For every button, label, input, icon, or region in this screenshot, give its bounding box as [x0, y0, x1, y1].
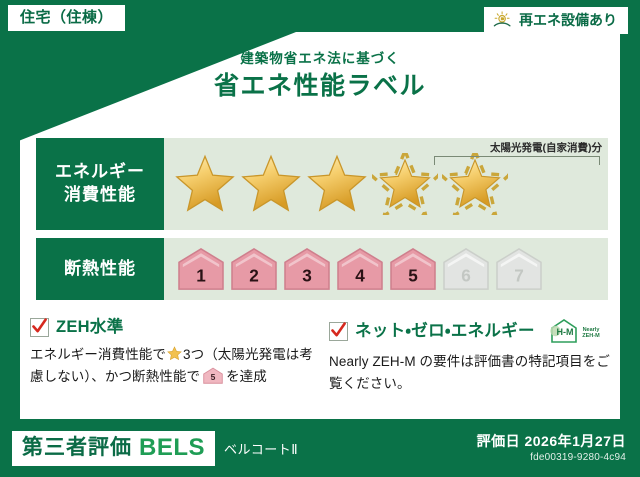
- evaluation-date: 評価日 2026年1月27日: [477, 433, 626, 450]
- energy-label-line1: エネルギー: [55, 161, 145, 184]
- title-block: 建築物省エネ法に基づく 省エネ性能ラベル: [0, 52, 640, 99]
- insulation-level-active: 1: [176, 247, 226, 291]
- insulation-performance-value: 1234567: [164, 238, 608, 300]
- star-icon-filled: [240, 154, 302, 214]
- insulation-scale: 1234567: [164, 247, 544, 291]
- insulation-level-active: 5: [388, 247, 438, 291]
- title-subtitle: 建築物省エネ法に基づく: [0, 52, 640, 66]
- insulation-performance-row: 断熱性能 1234567: [36, 238, 608, 300]
- net-zero-note: ネット・ゼロ・エネルギー H-M Nearly ZEH-M Nearly ZEH…: [329, 318, 612, 395]
- energy-performance-label: エネルギー 消費性能: [36, 138, 164, 230]
- star-icon-solar: [372, 153, 438, 215]
- evaluation-id: fde00319-9280-4c94: [477, 452, 626, 463]
- zeh-note-body: エネルギー消費性能で3つ（太陽光発電は考慮しない）、かつ断熱性能で5を達成: [30, 344, 313, 388]
- insulation-label-text: 断熱性能: [64, 258, 136, 281]
- zeh-note-title: ZEH水準: [56, 319, 124, 336]
- zeh-note-head: ZEH水準: [30, 318, 313, 337]
- renewable-badge-label: 再エネ設備あり: [519, 13, 617, 27]
- insulation-level-number: 2: [249, 265, 259, 285]
- footer-bar: 第三者評価 BELS ベルコートⅡ 評価日 2026年1月27日 fde0031…: [0, 419, 640, 477]
- insulation-level-active: 3: [282, 247, 332, 291]
- insulation-level-number: 5: [408, 265, 418, 285]
- net-zero-note-body: Nearly ZEH-M の要件は評価書の特記項目をご覧ください。: [329, 351, 612, 395]
- energy-label-root: 住宅（住棟） 再エネ設備あり 建築物省エネ法に基づく 省エネ性能ラベル エネルギ…: [0, 0, 640, 477]
- net-zero-checkbox[interactable]: [329, 322, 348, 341]
- energy-label-line2: 消費性能: [64, 184, 136, 207]
- checkmark-icon: [31, 317, 48, 336]
- evaluation-date-value: 2026年1月27日: [524, 433, 626, 449]
- svg-text:H-M: H-M: [556, 327, 573, 337]
- zeh-checkbox[interactable]: [30, 318, 49, 337]
- energy-performance-row: エネルギー 消費性能 太陽光発電(自家消費)分: [36, 138, 608, 230]
- page-title: 省エネ性能ラベル: [0, 74, 640, 99]
- zeh-note: ZEH水準 エネルギー消費性能で3つ（太陽光発電は考慮しない）、かつ断熱性能で5…: [30, 318, 313, 395]
- insulation-level-inactive: 7: [494, 247, 544, 291]
- renewable-equipment-badge: 再エネ設備あり: [484, 7, 628, 34]
- insulation-level-number: 1: [196, 265, 206, 285]
- svg-text:ZEH-M: ZEH-M: [582, 333, 600, 339]
- insulation-level-active: 2: [229, 247, 279, 291]
- zeh-body-part1: エネルギー消費性能で: [30, 347, 166, 362]
- solar-note-label: 太陽光発電(自家消費)分: [490, 140, 602, 155]
- performance-rows: エネルギー 消費性能 太陽光発電(自家消費)分 断熱性能 1234567: [36, 138, 608, 308]
- bels-en-label: BELS: [139, 436, 205, 460]
- svg-text:5: 5: [211, 372, 216, 382]
- bels-jp-label: 第三者評価: [22, 437, 132, 458]
- evaluation-info: 評価日 2026年1月27日 fde00319-9280-4c94: [477, 433, 626, 464]
- zeh-m-logo-icon: H-M Nearly ZEH-M: [546, 318, 608, 344]
- net-zero-note-head: ネット・ゼロ・エネルギー H-M Nearly ZEH-M: [329, 318, 612, 344]
- star-icon-filled: [174, 154, 236, 214]
- net-zero-note-title: ネット・ゼロ・エネルギー: [355, 323, 535, 340]
- checkmark-icon: [330, 321, 347, 340]
- insulation-level-number: 4: [355, 265, 365, 285]
- insulation-level-inactive: 6: [441, 247, 491, 291]
- insulation-level-number: 7: [514, 265, 524, 285]
- evaluation-date-label: 評価日: [477, 433, 521, 449]
- insulation-performance-label: 断熱性能: [36, 238, 164, 300]
- building-type-tag: 住宅（住棟）: [8, 5, 125, 31]
- insulation-level-number: 3: [302, 265, 312, 285]
- building-name: ベルコートⅡ: [224, 439, 298, 458]
- notes-section: ZEH水準 エネルギー消費性能で3つ（太陽光発電は考慮しない）、かつ断熱性能で5…: [30, 318, 612, 395]
- energy-performance-value: 太陽光発電(自家消費)分: [164, 138, 608, 230]
- solar-bracket: [434, 156, 600, 165]
- insulation-badge-icon: 5: [202, 367, 224, 384]
- building-type-label: 住宅（住棟）: [20, 9, 113, 26]
- star-icon-filled: [306, 154, 368, 214]
- insulation-level-active: 4: [335, 247, 385, 291]
- zeh-body-part3: を達成: [226, 369, 267, 384]
- insulation-level-number: 6: [461, 265, 471, 285]
- sun-icon: [492, 11, 514, 29]
- bels-badge: 第三者評価 BELS: [12, 431, 215, 466]
- star-icon: [167, 346, 182, 361]
